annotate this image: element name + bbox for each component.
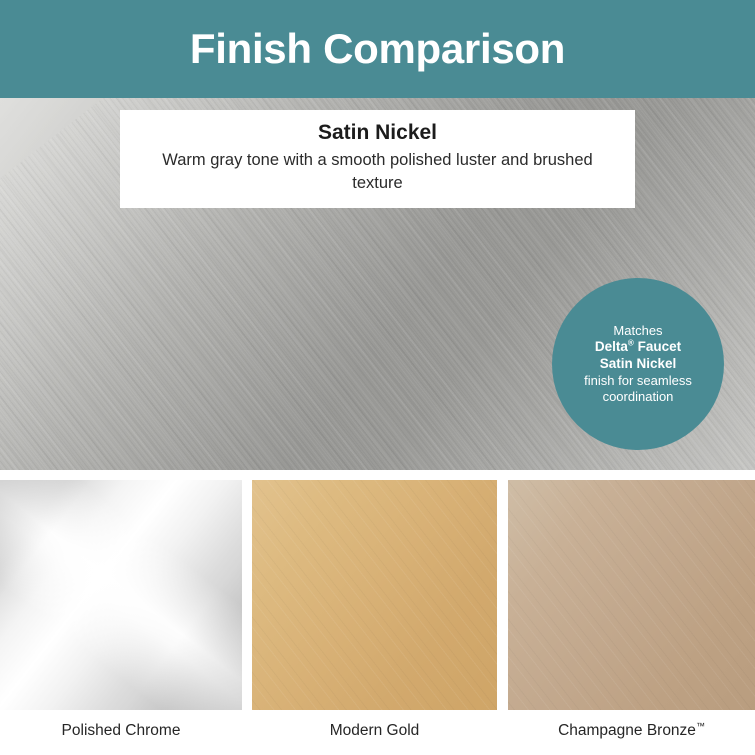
trademark-icon: ™	[696, 721, 705, 731]
swatch-modern-gold[interactable]	[252, 480, 497, 710]
badge-line-note-2: coordination	[603, 389, 674, 405]
badge-line-note-1: finish for seamless	[584, 373, 692, 389]
finish-description: Warm gray tone with a smooth polished lu…	[136, 149, 619, 194]
swatch-label-text: Modern Gold	[330, 722, 420, 739]
page-title: Finish Comparison	[190, 28, 565, 70]
chrome-corner-shading	[0, 480, 242, 710]
matches-delta-badge: Matches Delta® Faucet Satin Nickel finis…	[552, 278, 724, 450]
page-header: Finish Comparison	[0, 0, 755, 98]
badge-brand-tail: Faucet	[634, 339, 681, 354]
swatch-labels: Polished Chrome Modern Gold Champagne Br…	[0, 710, 755, 755]
finish-info-card: Satin Nickel Warm gray tone with a smoot…	[120, 110, 635, 208]
gold-brush-grain	[252, 480, 497, 710]
badge-brand-name: Delta	[595, 339, 628, 354]
swatch-label-text: Polished Chrome	[62, 722, 181, 739]
finish-name: Satin Nickel	[136, 120, 619, 146]
swatch-polished-chrome[interactable]	[0, 480, 242, 710]
badge-line-finish: Satin Nickel	[600, 356, 677, 373]
badge-line-brand: Delta® Faucet	[595, 339, 681, 356]
finish-comparison-page: Finish Comparison Satin Nickel Warm gray…	[0, 0, 755, 755]
swatch-champagne-bronze[interactable]	[508, 480, 755, 710]
alternate-finishes-row	[0, 480, 755, 710]
swatch-label-polished-chrome: Polished Chrome	[0, 722, 242, 740]
swatch-label-champagne-bronze: Champagne Bronze™	[508, 722, 755, 740]
swatch-label-modern-gold: Modern Gold	[252, 722, 497, 740]
swatch-label-text: Champagne Bronze	[558, 722, 696, 739]
badge-line-matches: Matches	[613, 323, 662, 339]
bronze-brush-grain	[508, 480, 755, 710]
